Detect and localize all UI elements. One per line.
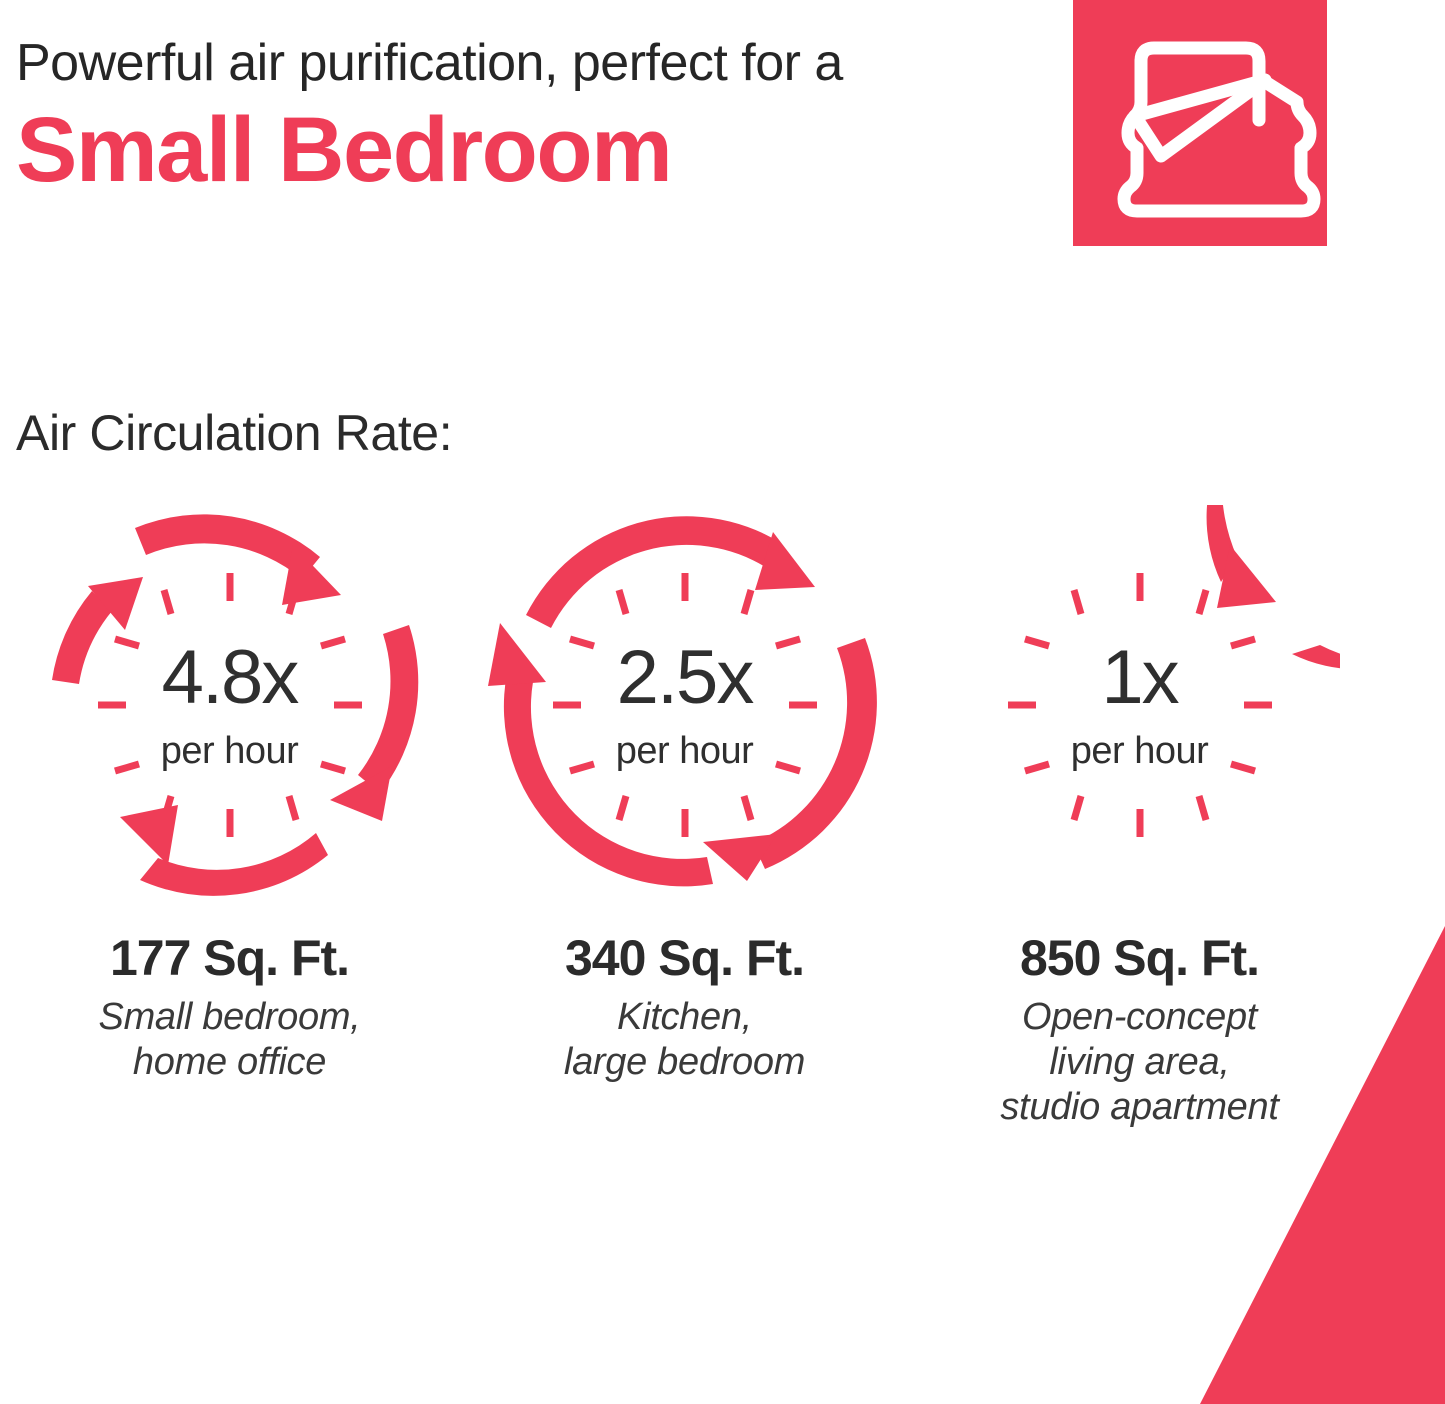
area-desc-1: Small bedroom, home office — [99, 995, 361, 1085]
area-desc-1-line-2: home office — [133, 1041, 326, 1083]
section-label: Air Circulation Rate: — [16, 404, 452, 462]
area-desc-2-line-1: Kitchen, — [617, 996, 752, 1038]
circulation-arrows — [1206, 505, 1339, 669]
area-desc-1-line-1: Small bedroom, — [99, 996, 361, 1038]
gauge-2: 2.5x per hour — [485, 505, 885, 905]
gauge-1-dial — [30, 505, 430, 905]
tick-marks — [1008, 573, 1272, 837]
tick-marks — [553, 573, 817, 837]
area-value-1: 177 Sq. Ft. — [110, 929, 349, 987]
gauge-3-dial — [940, 505, 1340, 905]
gauge-column-2: 2.5x per hour 340 Sq. Ft. Kitchen, large… — [457, 505, 912, 1129]
tick-marks — [98, 573, 362, 837]
header-block: Powerful air purification, perfect for a… — [16, 34, 1036, 204]
area-desc-2-line-2: large bedroom — [564, 1041, 805, 1083]
bed-icon-tile — [1073, 0, 1327, 246]
gauge-1: 4.8x per hour — [30, 505, 430, 905]
gauge-column-1: 4.8x per hour 177 Sq. Ft. Small bedroom,… — [2, 505, 457, 1129]
gauge-2-dial — [485, 505, 885, 905]
area-desc-2: Kitchen, large bedroom — [564, 995, 805, 1085]
area-value-2: 340 Sq. Ft. — [565, 929, 804, 987]
headline-subtitle: Powerful air purification, perfect for a — [16, 34, 1036, 92]
headline-title: Small Bedroom — [16, 98, 1036, 204]
gauge-3: 1x per hour — [940, 505, 1340, 905]
infographic-page: Powerful air purification, perfect for a… — [0, 0, 1445, 1404]
bed-icon — [1073, 0, 1327, 246]
corner-triangle-icon — [1200, 926, 1445, 1404]
